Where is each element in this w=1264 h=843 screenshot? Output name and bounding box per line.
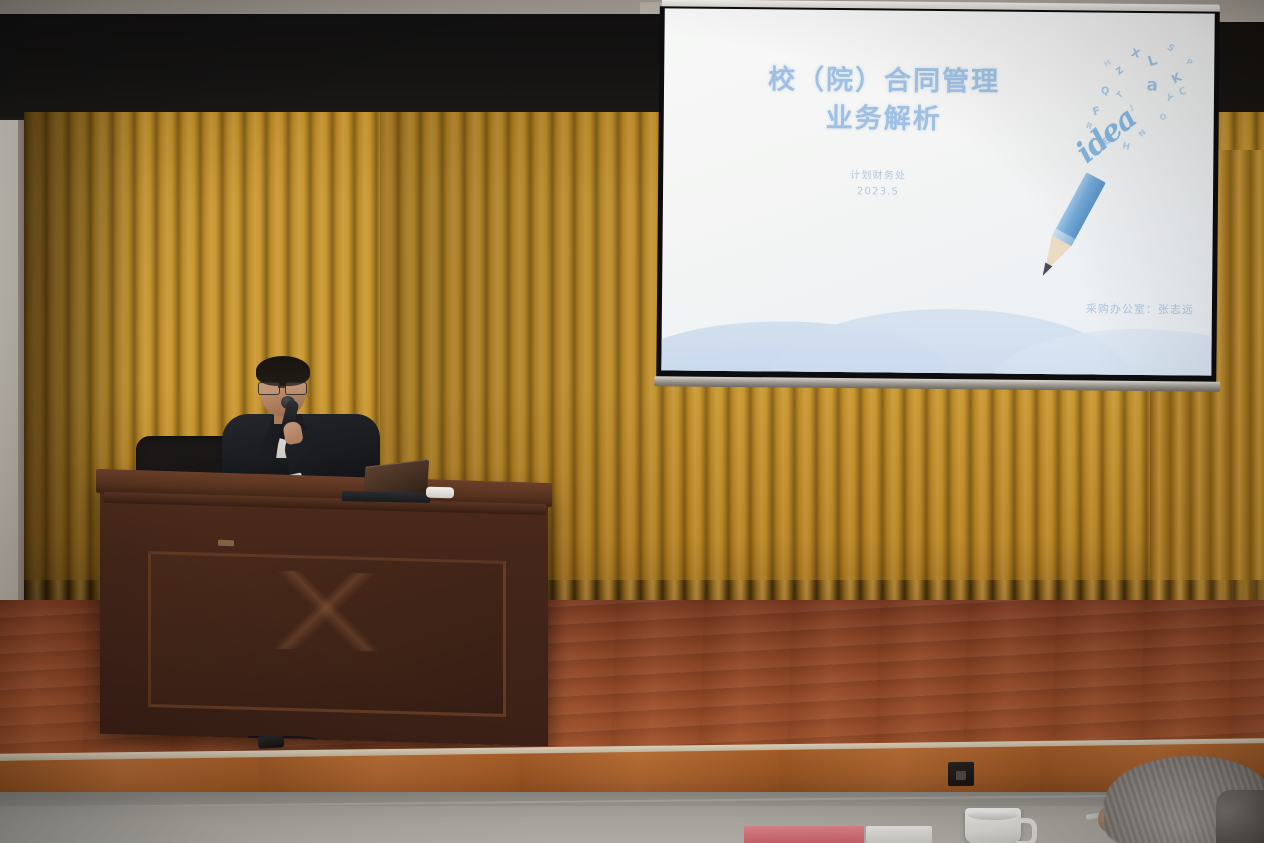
lens-bridge <box>278 386 286 388</box>
white-desk-object <box>426 487 454 499</box>
mug-rim <box>968 810 1018 820</box>
slide-subtitle-date: 2023.5 <box>663 182 1093 202</box>
presentation-slide: X L S Z a K Q T F Y C R B H N O J P M id… <box>661 8 1214 375</box>
podium-diamond-inlay <box>176 568 476 654</box>
projection-screen: X L S Z a K Q T F Y C R B H N O J P M id… <box>656 3 1222 390</box>
lens-left <box>258 382 280 395</box>
mug-handle <box>1016 818 1037 843</box>
wall-outlet[interactable] <box>948 762 974 786</box>
wall-outlet-face <box>956 771 966 780</box>
slide-title-line1: 校（院）合同管理 <box>664 60 1104 103</box>
audience-table <box>0 806 1264 843</box>
podium-nameplate <box>218 540 234 546</box>
slide-title-line2: 业务解析 <box>664 99 1104 142</box>
lecture-hall-photo: X L S Z a K Q T F Y C R B H N O J P M id… <box>0 0 1264 843</box>
white-mug <box>965 808 1021 843</box>
red-document <box>744 826 864 843</box>
floor-plug <box>258 735 285 748</box>
laptop-keyboard[interactable] <box>342 491 430 503</box>
eyeglasses-icon <box>258 382 308 393</box>
lens-right <box>285 382 307 395</box>
slide-subtitle: 计划财务处 2023.5 <box>663 166 1093 201</box>
attendee-shoulder <box>1216 790 1264 843</box>
napkin <box>866 826 932 843</box>
slide-presenter-credit: 采购办公室：张志远 <box>1086 300 1194 317</box>
black-valance <box>0 14 662 122</box>
slide-title: 校（院）合同管理 业务解析 <box>664 60 1105 141</box>
